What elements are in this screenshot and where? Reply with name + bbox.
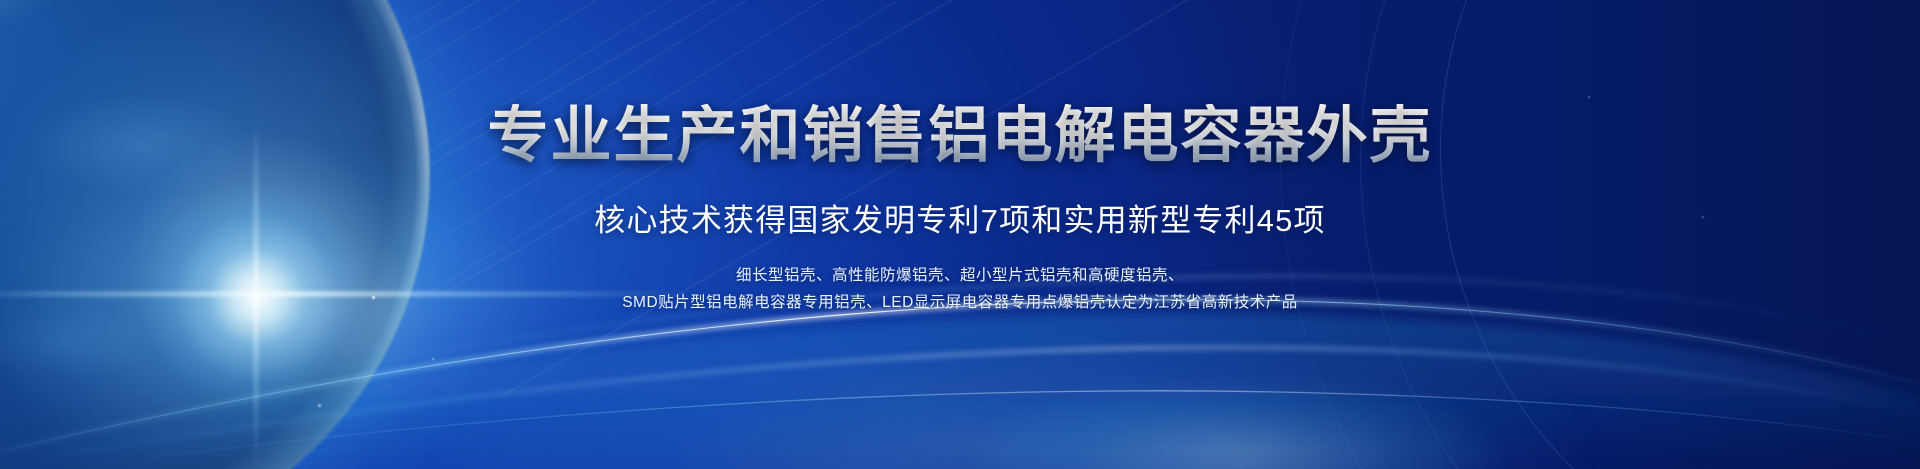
banner-notes: 细长型铝壳、高性能防爆铝壳、超小型片式铝壳和高硬度铝壳、 SMD贴片型铝电解电容… [622,263,1298,316]
banner-note-line-2: SMD贴片型铝电解电容器专用铝壳、LED显示屏电容器专用点爆铝壳认定为江苏省高新… [622,290,1298,317]
banner-headline: 专业生产和销售铝电解电容器外壳 [487,104,1432,168]
banner-note-line-1: 细长型铝壳、高性能防爆铝壳、超小型片式铝壳和高硬度铝壳、 [622,263,1298,290]
hero-banner: 专业生产和销售铝电解电容器外壳 核心技术获得国家发明专利7项和实用新型专利45项… [0,0,1920,469]
banner-subheadline: 核心技术获得国家发明专利7项和实用新型专利45项 [594,195,1326,240]
